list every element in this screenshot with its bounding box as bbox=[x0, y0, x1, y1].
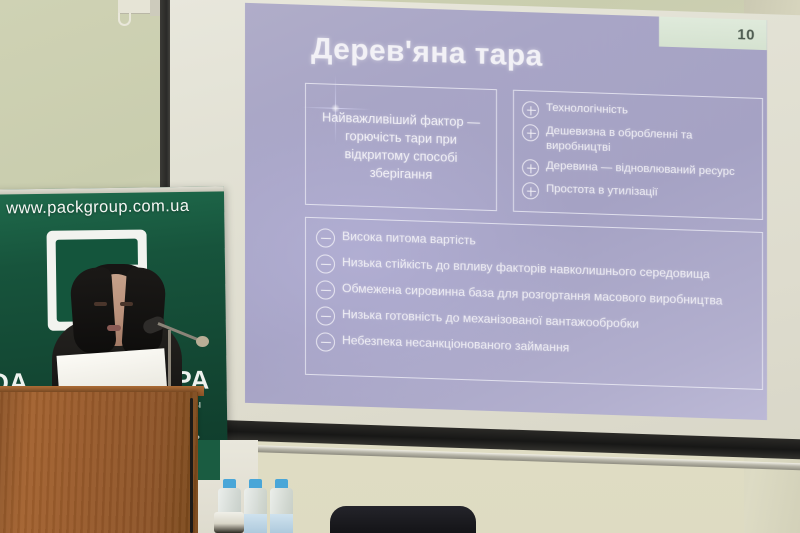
key-factor-text: Найважливіший фактор — горючість тари пр… bbox=[316, 108, 486, 186]
slide-number-band: 10 bbox=[659, 17, 767, 51]
disadvantages-box: Висока питома вартість Низька стійкість … bbox=[305, 217, 763, 390]
power-cable bbox=[190, 398, 193, 533]
disadvantage-label: Небезпека несанкціонованого займання bbox=[342, 333, 569, 356]
plus-icon bbox=[522, 159, 539, 177]
advantages-box: Технологічність Дешевизна в обробленні т… bbox=[513, 90, 763, 220]
screen-mount-hook bbox=[118, 13, 131, 26]
plus-icon bbox=[522, 101, 539, 119]
presentation-photo-scene: 10 Дерев'яна тара Найважливіший фактор —… bbox=[0, 0, 800, 533]
banner-url-text: www.packgroup.com.ua bbox=[6, 197, 189, 219]
speaker-hair-left bbox=[69, 267, 117, 356]
advantage-label: Дешевизна в обробленні та виробництві bbox=[546, 124, 754, 161]
projection-screen: 10 Дерев'яна тара Найважливіший фактор —… bbox=[160, 0, 800, 477]
podium-wood-grain bbox=[0, 392, 198, 533]
key-factor-box: Найважливіший фактор — горючість тари пр… bbox=[305, 83, 497, 211]
speaker-hair-right bbox=[121, 267, 167, 358]
plus-icon bbox=[522, 182, 539, 200]
water-bottle bbox=[270, 488, 293, 533]
list-item: Деревина — відновлюваний ресурс bbox=[522, 158, 754, 184]
disadvantage-label: Низька готовність до механізованої ванта… bbox=[342, 307, 639, 333]
disadvantage-label: Висока питома вартість bbox=[342, 229, 476, 249]
disadvantage-label: Низька стійкість до впливу факторів навк… bbox=[342, 255, 710, 283]
podium bbox=[0, 392, 198, 533]
microphone-knob bbox=[196, 336, 209, 347]
plus-icon bbox=[522, 124, 539, 142]
advantage-label: Простота в утилізації bbox=[546, 182, 658, 201]
cup bbox=[214, 512, 244, 533]
minus-icon bbox=[316, 280, 335, 300]
chair-backrest bbox=[330, 506, 476, 533]
minus-icon bbox=[316, 254, 335, 274]
water-bottle bbox=[244, 488, 267, 533]
advantage-label: Технологічність bbox=[546, 101, 628, 119]
list-item: Технологічність bbox=[522, 100, 754, 126]
slide-title: Дерев'яна тара bbox=[311, 32, 543, 74]
projected-slide: 10 Дерев'яна тара Найважливіший фактор —… bbox=[245, 3, 767, 420]
speaker-eye-right bbox=[120, 302, 133, 306]
screen-surface: 10 Дерев'яна тара Найважливіший фактор —… bbox=[170, 0, 800, 443]
minus-icon bbox=[316, 332, 335, 352]
disadvantage-label: Обмежена сировинна база для розгортання … bbox=[342, 281, 723, 309]
shelf-green-panel bbox=[198, 440, 220, 480]
advantage-label: Деревина — відновлюваний ресурс bbox=[546, 159, 735, 180]
slide-number: 10 bbox=[737, 26, 755, 44]
speaker-mouth bbox=[107, 325, 121, 331]
list-item: Простота в утилізації bbox=[522, 181, 754, 207]
minus-icon bbox=[316, 306, 335, 326]
minus-icon bbox=[316, 228, 335, 248]
speaker-eye-left bbox=[94, 302, 107, 306]
list-item: Дешевизна в обробленні та виробництві bbox=[522, 123, 754, 161]
